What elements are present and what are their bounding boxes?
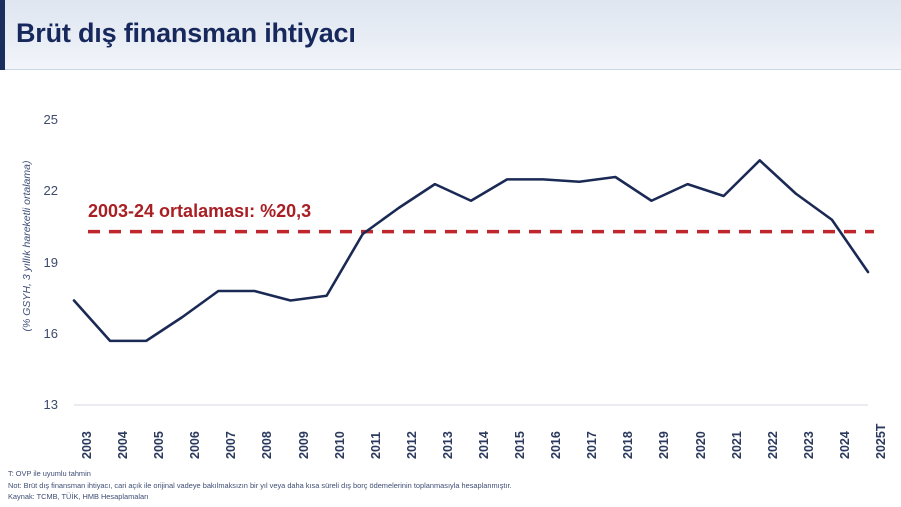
y-axis-tick-13: 13 — [26, 397, 58, 412]
x-axis-tick-2019: 2019 — [657, 431, 671, 459]
x-axis-tick-2023: 2023 — [802, 431, 816, 459]
x-axis-tick-2010: 2010 — [333, 431, 347, 459]
x-axis-tick-2015: 2015 — [513, 431, 527, 459]
chart-container: (% GSYH, 3 yıllık hareketli ortalama) 20… — [0, 70, 901, 465]
x-axis-tick-2012: 2012 — [405, 431, 419, 459]
x-axis-tick-2016: 2016 — [549, 431, 563, 459]
x-axis-tick-2005: 2005 — [152, 431, 166, 459]
y-axis-tick-22: 22 — [26, 183, 58, 198]
x-axis-tick-2020: 2020 — [694, 431, 708, 459]
x-axis-tick-2021: 2021 — [730, 431, 744, 459]
x-axis-tick-2022: 2022 — [766, 431, 780, 459]
x-axis-tick-2007: 2007 — [224, 431, 238, 459]
title-banner: Brüt dış finansman ihtiyacı — [0, 0, 901, 70]
line-chart-plot — [0, 70, 901, 465]
x-axis-tick-2017: 2017 — [585, 431, 599, 459]
x-axis-tick-2004: 2004 — [116, 431, 130, 459]
page-title: Brüt dış finansman ihtiyacı — [16, 18, 356, 49]
footnote-forecast: T: OVP ile uyumlu tahmin — [8, 468, 888, 480]
x-axis-tick-2018: 2018 — [621, 431, 635, 459]
x-axis-tick-2003: 2003 — [80, 431, 94, 459]
y-axis-tick-16: 16 — [26, 326, 58, 341]
x-axis-tick-2008: 2008 — [260, 431, 274, 459]
x-axis-tick-2011: 2011 — [369, 432, 383, 459]
title-accent-bar — [0, 0, 5, 70]
footnote-note: Not: Brüt dış finansman ihtiyacı, cari a… — [8, 480, 888, 492]
footnote-source: Kaynak: TCMB, TÜİK, HMB Hesaplamaları — [8, 491, 888, 503]
x-axis-tick-2024: 2024 — [838, 431, 852, 459]
y-axis-tick-25: 25 — [26, 112, 58, 127]
x-axis-tick-2006: 2006 — [188, 431, 202, 459]
footnotes: T: OVP ile uyumlu tahmin Not: Brüt dış f… — [8, 468, 888, 503]
data-series-line-0 — [74, 160, 868, 341]
y-axis-tick-19: 19 — [26, 255, 58, 270]
x-axis-tick-2013: 2013 — [441, 431, 455, 459]
x-axis-tick-2009: 2009 — [297, 431, 311, 459]
x-axis-tick-2025T: 2025T — [874, 424, 888, 459]
x-axis-tick-2014: 2014 — [477, 431, 491, 459]
